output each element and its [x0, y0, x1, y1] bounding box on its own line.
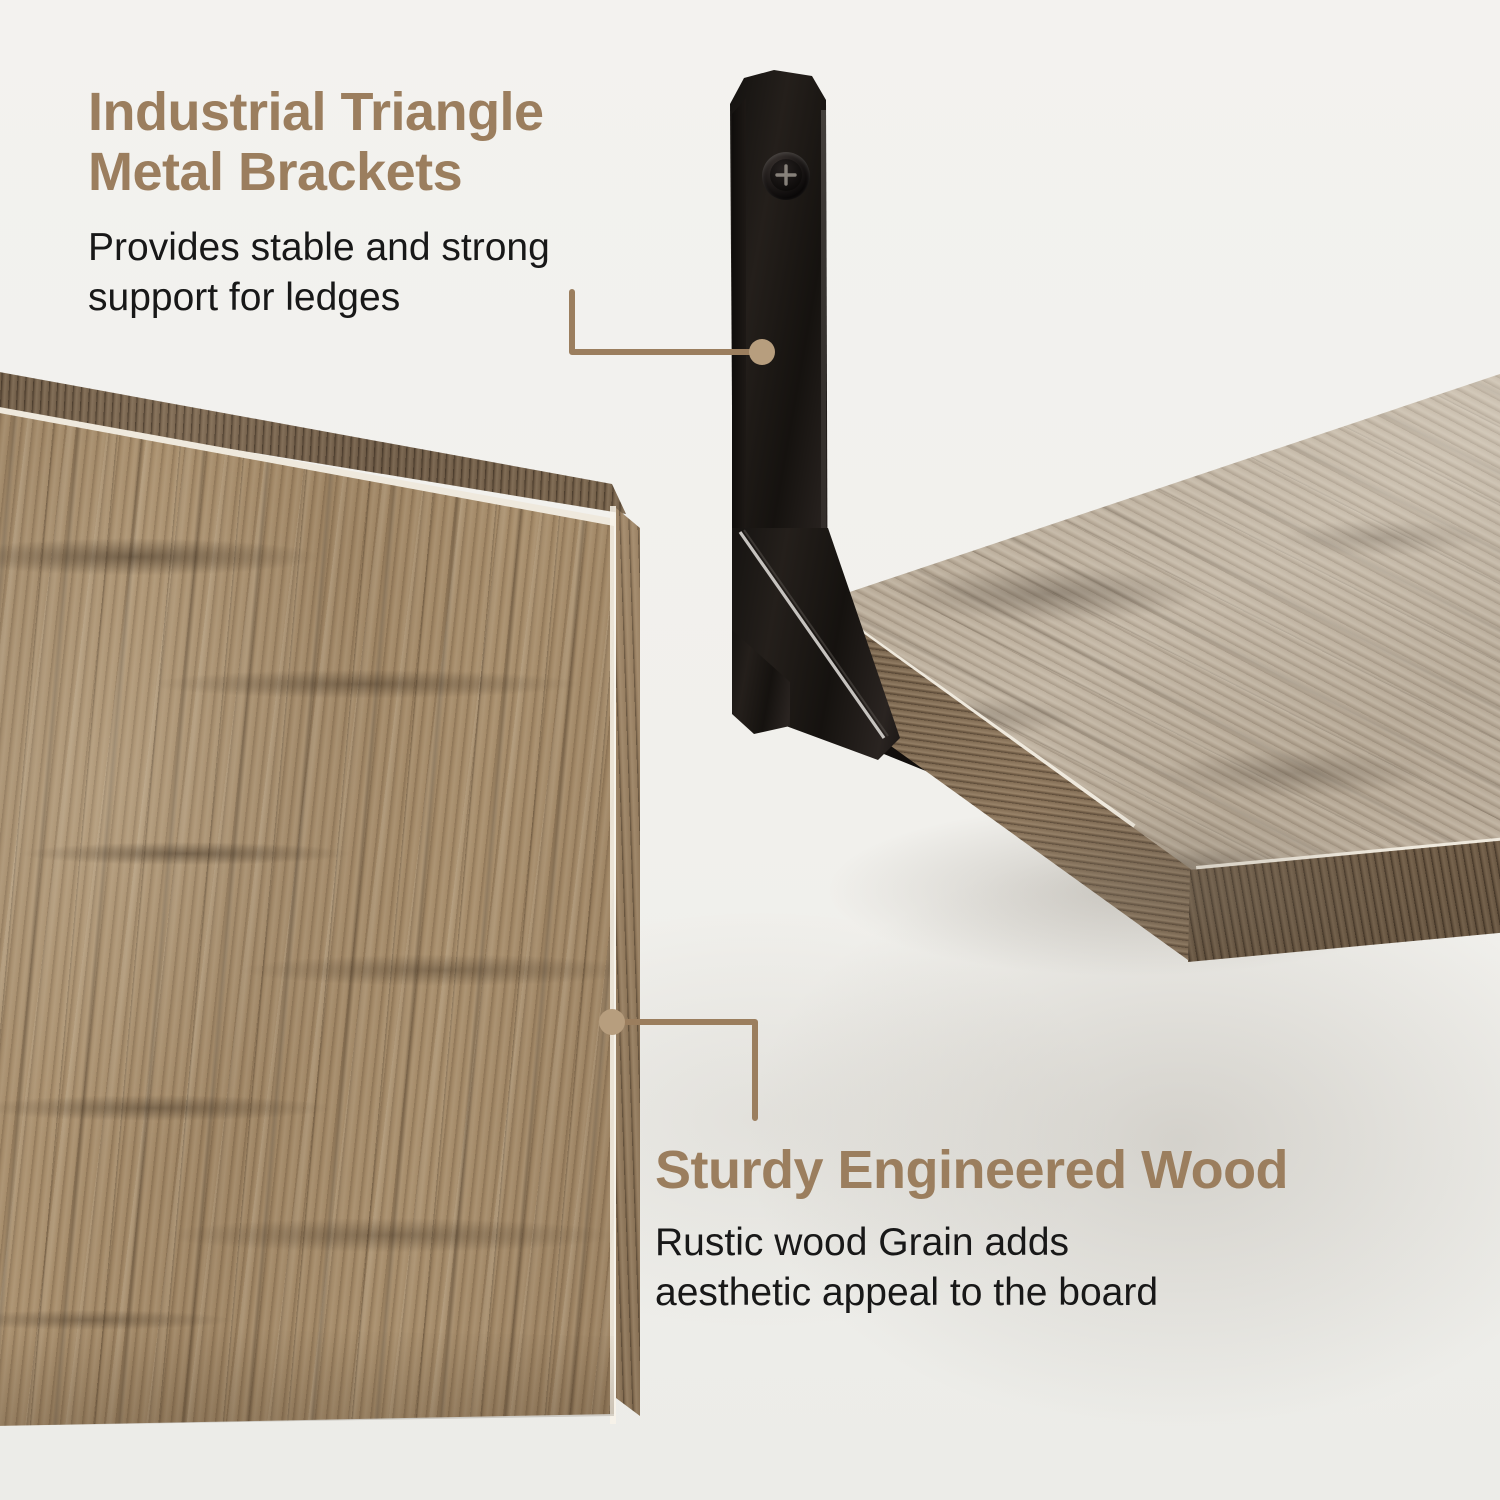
left-shelf-front-face [0, 366, 634, 1426]
left-shelf-board [0, 366, 634, 1426]
right-shelf-drop-shadow [750, 800, 1500, 1100]
wood-subtext: Rustic wood Grain adds aesthetic appeal … [655, 1218, 1288, 1318]
mounting-screw [762, 152, 810, 200]
brackets-subtext: Provides stable and strong support for l… [88, 223, 550, 323]
callout-text-wood: Sturdy Engineered Wood Rustic wood Grain… [655, 1140, 1288, 1318]
callout-text-brackets: Industrial Triangle Metal Brackets Provi… [88, 82, 550, 323]
wood-headline: Sturdy Engineered Wood [655, 1140, 1288, 1200]
left-shelf-side-seam [610, 506, 616, 1424]
phillips-icon [770, 159, 802, 191]
brackets-headline: Industrial Triangle Metal Brackets [88, 82, 550, 203]
product-feature-image: Industrial Triangle Metal Brackets Provi… [0, 0, 1500, 1500]
left-shelf-bottom-shadow [0, 1326, 634, 1436]
metal-bracket [720, 70, 950, 770]
